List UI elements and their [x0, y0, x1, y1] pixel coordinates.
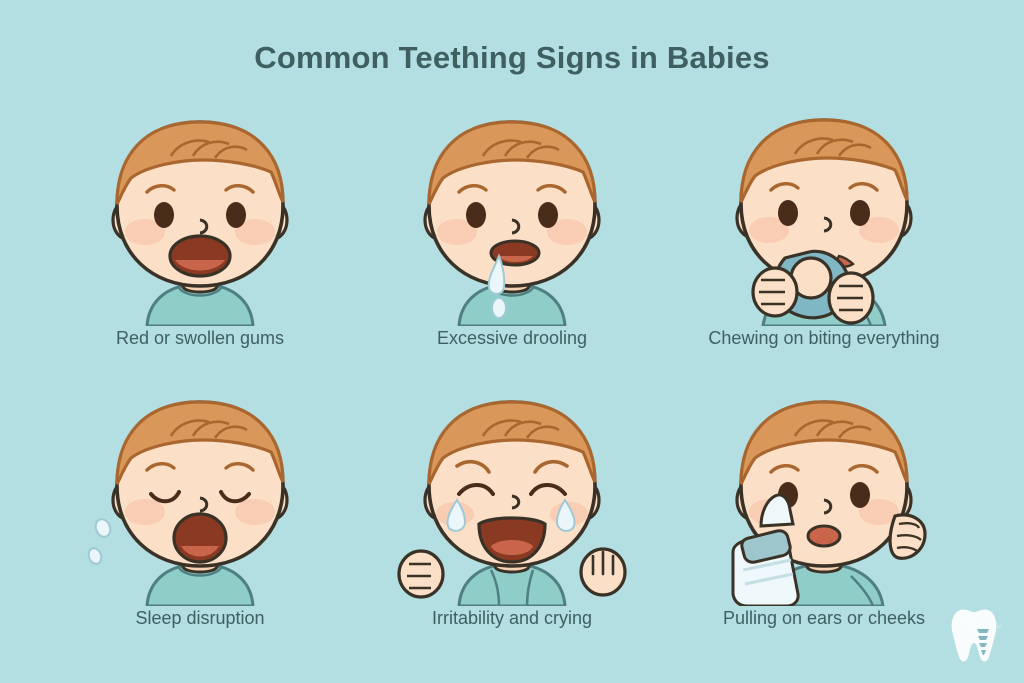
- baby-crying-illustration: [387, 388, 637, 606]
- panel-caption: Chewing on biting everything: [708, 328, 939, 349]
- svg-text:Dr. Mahmoud Fakhry: Dr. Mahmoud Fakhry: [952, 622, 1002, 630]
- baby-pulling-ear-with-bottle-illustration: [699, 388, 949, 606]
- panel-caption: Sleep disruption: [135, 608, 264, 629]
- panel-sleep-disruption[interactable]: Sleep disruption: [44, 388, 356, 668]
- panel-pulling-on-ears-or-cheeks[interactable]: Pulling on ears or cheeks: [668, 388, 980, 668]
- raised-fist-left: [399, 551, 443, 597]
- panel-caption: Irritability and crying: [432, 608, 592, 629]
- baby-with-teething-ring-illustration: [699, 108, 949, 326]
- baby-drooling-illustration: [387, 108, 637, 326]
- teething-signs-grid: Red or swollen gums: [44, 108, 980, 668]
- panel-caption: Pulling on ears or cheeks: [723, 608, 925, 629]
- panel-irritability-and-crying[interactable]: Irritability and crying: [356, 388, 668, 668]
- panel-caption: Red or swollen gums: [116, 328, 284, 349]
- panel-caption: Excessive drooling: [437, 328, 587, 349]
- panel-chewing-on-biting-everything[interactable]: Chewing on biting everything: [668, 108, 980, 388]
- baby-open-mouth-red-gums-illustration: [75, 108, 325, 326]
- panel-excessive-drooling[interactable]: Excessive drooling: [356, 108, 668, 388]
- drool-drop: [492, 298, 506, 318]
- page-title: Common Teething Signs in Babies: [0, 40, 1024, 76]
- hand-on-ear: [890, 515, 925, 558]
- baby-sleepy-yawning-illustration: [75, 388, 325, 606]
- infographic-canvas: Common Teething Signs in Babies: [0, 0, 1024, 683]
- sleep-drop-2: [87, 546, 104, 565]
- panel-red-or-swollen-gums[interactable]: Red or swollen gums: [44, 108, 356, 388]
- tooth-implant-logo: Dr. Mahmoud Fakhry: [946, 603, 1002, 665]
- sleep-drop-1: [93, 517, 112, 539]
